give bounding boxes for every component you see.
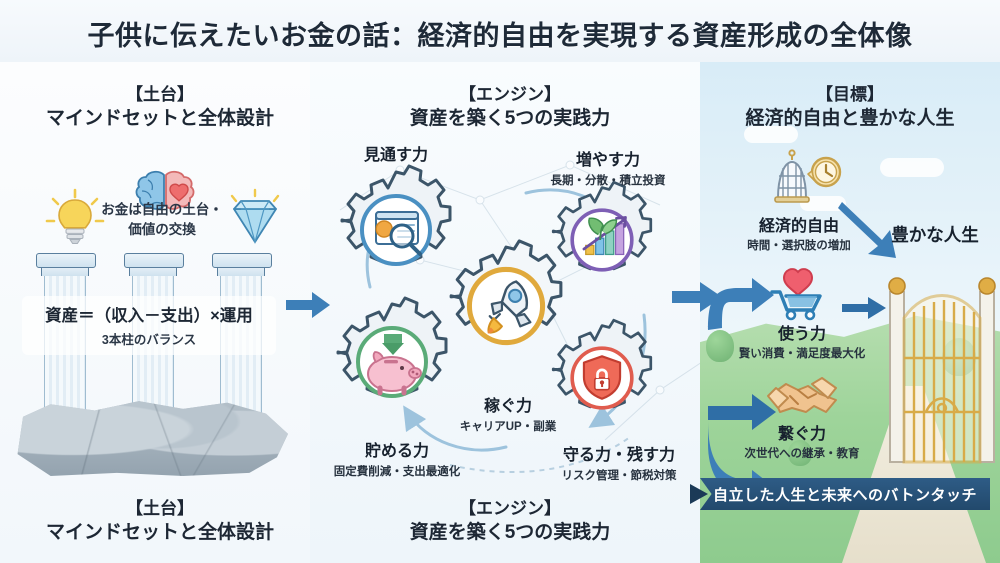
arrow-foundation-to-engine bbox=[286, 288, 332, 322]
engine-subtitle: 資産を築く5つの実践力 bbox=[320, 106, 700, 131]
footer-foundation: 【土台】 マインドセットと全体設計 bbox=[0, 498, 320, 546]
foundation-bracket: 【土台】 bbox=[0, 84, 320, 106]
gear-sub-grow: 長期・分散・積立投資 bbox=[528, 172, 688, 188]
arrow-spend-to-gate bbox=[842, 296, 888, 320]
footer-engine-bracket: 【エンジン】 bbox=[320, 498, 700, 520]
goal-sub-connect: 次世代への継承・教育 bbox=[712, 445, 892, 461]
gear-label-foresight: 見通す力 bbox=[326, 141, 466, 165]
golden-gate-icon bbox=[886, 262, 998, 472]
asset-formula-sub: 3本柱のバランス bbox=[22, 329, 276, 348]
infographic-canvas: 子供に伝えたいお金の話：経済的自由を実現する資産形成の全体像 【土台】 マインド… bbox=[0, 0, 1000, 563]
formula-box: 資産＝（収入－支出）×運用 3本柱のバランス bbox=[22, 296, 276, 355]
goal-title-spend: 使う力 bbox=[712, 320, 892, 344]
gear-sub-save: 固定費削減・支出最適化 bbox=[312, 463, 482, 479]
column-header-goal: 【目標】 経済的自由と豊かな人生 bbox=[700, 84, 1000, 132]
pillar-1-neck bbox=[41, 268, 89, 276]
gear-label-grow: 増やす力 長期・分散・積立投資 bbox=[528, 146, 688, 188]
footer-engine: 【エンジン】 資産を築く5つの実践力 bbox=[320, 498, 700, 546]
engine-bracket: 【エンジン】 bbox=[320, 84, 700, 106]
gear-save bbox=[330, 300, 454, 424]
goal-label-spend: 使う力 賢い消費・満足度最大化 bbox=[712, 320, 892, 361]
money-value-note-line2: 価値の交換 bbox=[128, 222, 196, 237]
gear-sub-protect: リスク管理・節税対策 bbox=[524, 467, 714, 483]
column-header-engine: 【エンジン】 資産を築く5つの実践力 bbox=[320, 84, 700, 132]
closing-ribbon-text: 自立した人生と未来へのバトンタッチ bbox=[713, 484, 977, 505]
cloud-1 bbox=[744, 126, 798, 143]
footer-foundation-subtitle: マインドセットと全体設計 bbox=[0, 520, 320, 545]
pillar-2-capital bbox=[124, 253, 184, 268]
closing-ribbon: 自立した人生と未来へのバトンタッチ bbox=[700, 478, 990, 510]
foundation-subtitle: マインドセットと全体設計 bbox=[0, 106, 320, 131]
gear-label-protect: 守る力・残す力 リスク管理・節税対策 bbox=[524, 441, 714, 483]
open-birdcage-clock-icon bbox=[772, 150, 844, 212]
rock-foundation-cracks bbox=[12, 398, 288, 476]
gear-title-foresight: 見通す力 bbox=[326, 141, 466, 165]
rich-life-label: 豊かな人生 bbox=[872, 222, 998, 247]
gear-earn bbox=[443, 243, 569, 369]
footer-foundation-bracket: 【土台】 bbox=[0, 498, 320, 520]
gear-label-save: 貯める力 固定費削減・支出最適化 bbox=[312, 437, 482, 479]
goal-sub-spend: 賢い消費・満足度最大化 bbox=[712, 345, 892, 361]
goal-title-connect: 繋ぐ力 bbox=[712, 420, 892, 444]
cart-heart-icon bbox=[766, 262, 836, 322]
gear-foresight bbox=[334, 168, 458, 292]
column-header-foundation: 【土台】 マインドセットと全体設計 bbox=[0, 84, 320, 132]
money-value-note-line1: お金は自由の土台・ bbox=[101, 202, 223, 217]
gear-title-protect: 守る力・残す力 bbox=[524, 441, 714, 465]
goal-label-connect: 繋ぐ力 次世代への継承・教育 bbox=[712, 420, 892, 461]
gear-title-grow: 増やす力 bbox=[528, 146, 688, 170]
money-value-note: お金は自由の土台・ 価値の交換 bbox=[82, 200, 242, 239]
goal-sub-freedom: 時間・選択肢の増加 bbox=[716, 237, 882, 253]
goal-label-freedom: 経済的自由 時間・選択肢の増加 bbox=[716, 212, 882, 253]
cloud-2 bbox=[880, 158, 944, 177]
asset-formula: 資産＝（収入－支出）×運用 bbox=[22, 302, 276, 326]
gear-title-save: 貯める力 bbox=[312, 437, 482, 461]
pillar-3-neck bbox=[217, 268, 265, 276]
handshake-icon bbox=[768, 370, 842, 420]
pillar-2-neck bbox=[129, 268, 177, 276]
pillar-1-capital bbox=[36, 253, 96, 268]
page-title: 子供に伝えたいお金の話：経済的自由を実現する資産形成の全体像 bbox=[0, 14, 1000, 53]
goal-title-freedom: 経済的自由 bbox=[716, 212, 882, 236]
goal-bracket: 【目標】 bbox=[700, 84, 1000, 106]
goal-subtitle: 経済的自由と豊かな人生 bbox=[700, 106, 1000, 131]
pillar-3-capital bbox=[212, 253, 272, 268]
footer-engine-subtitle: 資産を築く5つの実践力 bbox=[320, 520, 700, 545]
